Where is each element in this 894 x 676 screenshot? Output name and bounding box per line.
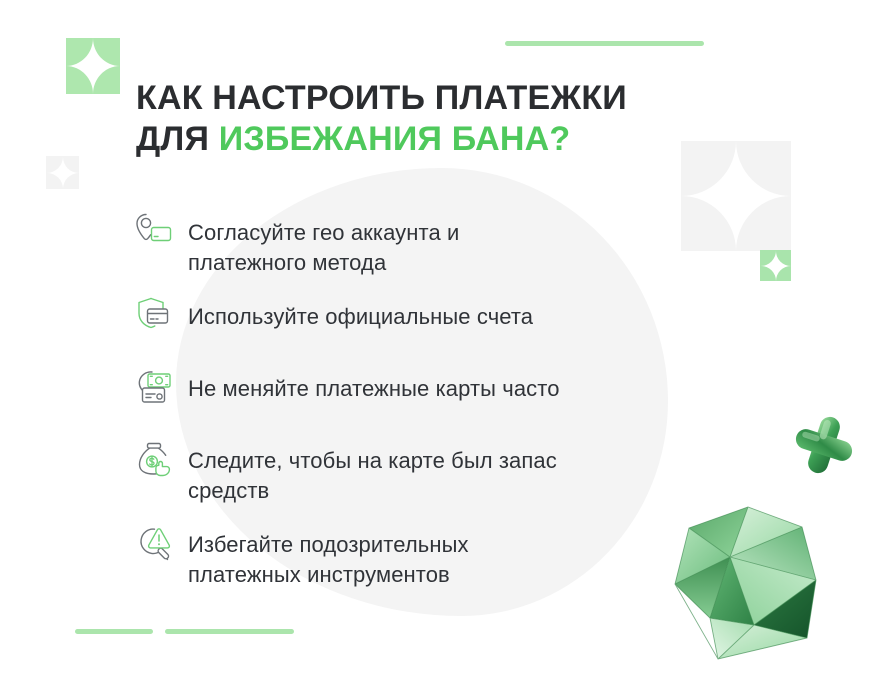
title-line-2-accent: ИЗБЕЖАНИЯ БАНА? — [219, 120, 571, 158]
list-item-label: Не меняйте платежные карты часто — [188, 362, 730, 404]
list-item: Следите, чтобы на карте был запас средст… — [130, 434, 730, 506]
list-item: Согласуйте гео аккаунта и платежного мет… — [130, 206, 730, 278]
page-title: КАК НАСТРОИТЬ ПЛАТЕЖКИ ДЛЯ ИЗБЕЖАНИЯ БАН… — [136, 78, 627, 160]
list-item-label: Избегайте подозрительных платежных инстр… — [188, 518, 730, 590]
divider-bar-bottom-left-short — [75, 629, 153, 634]
list-item: Избегайте подозрительных платежных инстр… — [130, 518, 730, 590]
banknote-card-icon — [130, 362, 188, 420]
divider-bar-top-right — [505, 41, 704, 46]
list-item-label: Используйте официальные счета — [188, 290, 730, 332]
shield-card-icon — [130, 290, 188, 348]
promo-card: КАК НАСТРОИТЬ ПЛАТЕЖКИ ДЛЯ ИЗБЕЖАНИЯ БАН… — [0, 0, 894, 676]
money-bag-hand-icon — [130, 434, 188, 492]
location-pin-card-icon — [130, 206, 188, 264]
title-line-2: ДЛЯ ИЗБЕЖАНИЯ БАНА? — [136, 119, 627, 160]
divider-bar-bottom-left-long — [165, 629, 294, 634]
magnifier-warning-icon — [130, 518, 188, 576]
title-line-1: КАК НАСТРОИТЬ ПЛАТЕЖКИ — [136, 78, 627, 119]
sparkle-icon — [66, 38, 120, 94]
list-item-label: Следите, чтобы на карте был запас средст… — [188, 434, 730, 506]
list-item: Используйте официальные счета — [130, 290, 730, 348]
sparkle-icon — [46, 156, 79, 189]
tips-list: Согласуйте гео аккаунта и платежного мет… — [130, 206, 730, 600]
list-item: Не меняйте платежные карты часто — [130, 362, 730, 420]
sparkle-icon — [760, 250, 791, 281]
list-item-label: Согласуйте гео аккаунта и платежного мет… — [188, 206, 730, 278]
title-line-2-prefix: ДЛЯ — [136, 120, 219, 158]
